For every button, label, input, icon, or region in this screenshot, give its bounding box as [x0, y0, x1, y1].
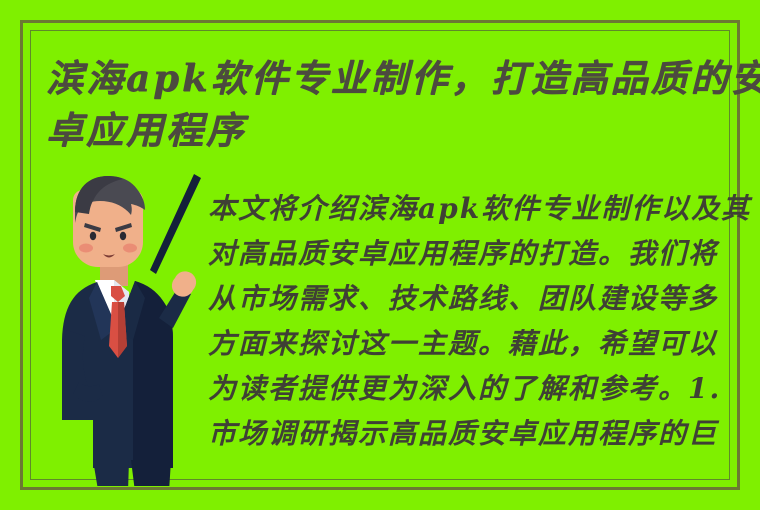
- eye-left: [90, 232, 96, 240]
- article-body: 本文将介绍滨海apk软件专业制作以及其 对高品质安卓应用程序的打造。我们将 从市…: [208, 186, 736, 456]
- article-line-3: 从市场需求、技术路线、团队建设等多: [208, 276, 736, 321]
- article-line-6: 市场调研揭示高品质安卓应用程序的巨: [208, 411, 736, 456]
- article-line-1: 本文将介绍滨海apk软件专业制作以及其: [208, 186, 736, 231]
- title-line-1: 滨海apk软件专业制作，打造高品质的安: [46, 52, 736, 104]
- article-line-4: 方面来探讨这一主题。藉此，希望可以: [208, 321, 736, 366]
- businessman-svg: [55, 168, 225, 486]
- promo-banner: 滨海apk软件专业制作，打造高品质的安 卓应用程序: [0, 0, 760, 510]
- blush-left: [79, 244, 93, 253]
- article-line-5: 为读者提供更为深入的了解和参考。1.: [208, 366, 736, 411]
- banner-title: 滨海apk软件专业制作，打造高品质的安 卓应用程序: [46, 52, 736, 156]
- blush-right: [123, 244, 137, 253]
- eye-right: [120, 232, 126, 240]
- illustration-businessman-with-pointer: [55, 168, 225, 486]
- title-line-2: 卓应用程序: [46, 104, 736, 156]
- pointer-stick-icon: [150, 174, 201, 274]
- hand-right: [172, 271, 196, 296]
- article-line-2: 对高品质安卓应用程序的打造。我们将: [208, 231, 736, 276]
- leg-right: [131, 460, 171, 486]
- leg-left: [93, 460, 129, 486]
